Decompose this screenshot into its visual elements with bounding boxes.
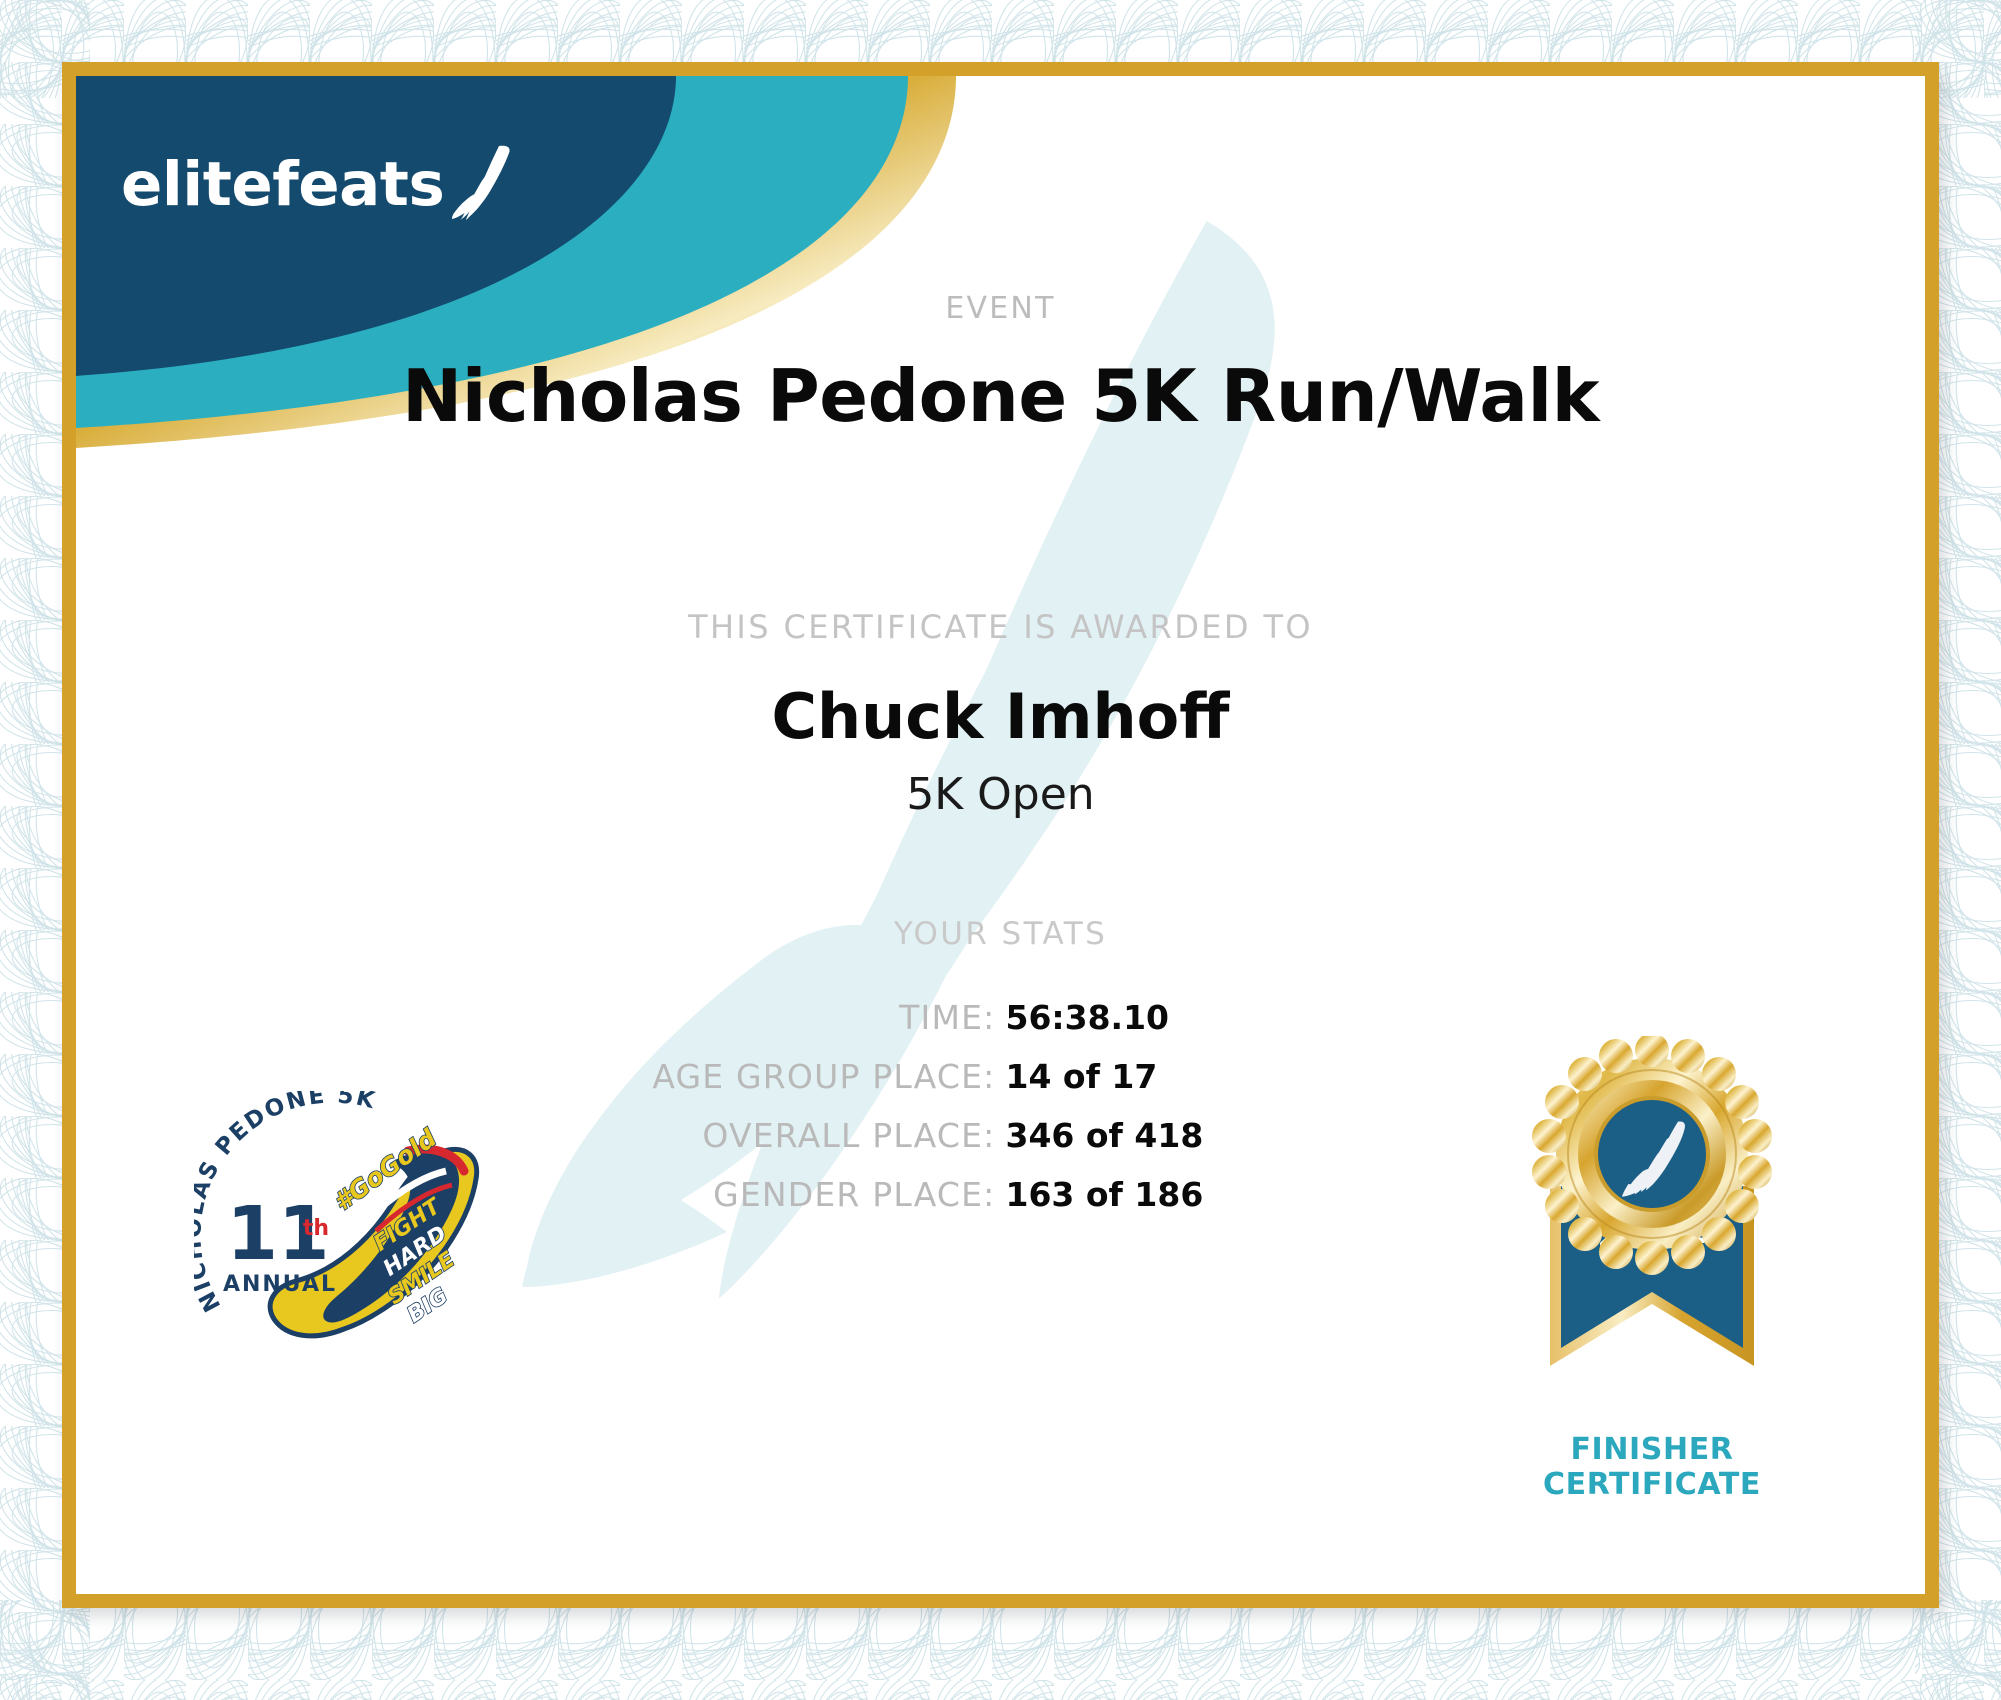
medal-caption-line2: CERTIFICATE [1487, 1468, 1817, 1503]
stat-label-overall-place: OVERALL PLACE: [538, 1116, 1006, 1155]
event-logo-annual: ANNUAL [223, 1272, 337, 1297]
stat-value-age-group-place: 14 of 17 [1006, 1057, 1464, 1096]
stat-value-overall-place: 346 of 418 [1006, 1116, 1464, 1155]
event-title: Nicholas Pedone 5K Run/Walk [76, 354, 1925, 438]
recipient-division: 5K Open [76, 769, 1925, 820]
stat-row-time: TIME: 56:38.10 [76, 998, 1925, 1037]
medal-caption-line1: FINISHER [1487, 1433, 1817, 1468]
elitefeats-logo: elitefeats [121, 144, 518, 225]
stat-label-age-group-place: AGE GROUP PLACE: [538, 1057, 1006, 1096]
event-logo: #GoGold FIGHT HARD SMILE BIG NICHOLAS PE… [194, 1091, 494, 1381]
event-label: EVENT [76, 291, 1925, 326]
winged-foot-icon [452, 144, 518, 225]
stats-heading: YOUR STATS [76, 916, 1925, 952]
awarded-to-label: THIS CERTIFICATE IS AWARDED TO [76, 608, 1925, 646]
recipient-name: Chuck Imhoff [76, 680, 1925, 753]
stat-value-gender-place: 163 of 186 [1006, 1175, 1464, 1214]
certificate-frame: elitefeats EVENT Nicholas Pedone 5K Run/… [62, 62, 1939, 1608]
medal-graphic: 2024 [1487, 1036, 1817, 1426]
medal-caption: FINISHER CERTIFICATE [1487, 1433, 1817, 1502]
stat-label-gender-place: GENDER PLACE: [538, 1175, 1006, 1214]
stat-value-time: 56:38.10 [1006, 998, 1464, 1037]
stat-label-time: TIME: [538, 998, 1006, 1037]
finisher-medal: 2024 [1487, 1036, 1817, 1496]
brand-wordmark: elitefeats [121, 154, 444, 215]
event-logo-edition-suffix: th [303, 1216, 329, 1241]
